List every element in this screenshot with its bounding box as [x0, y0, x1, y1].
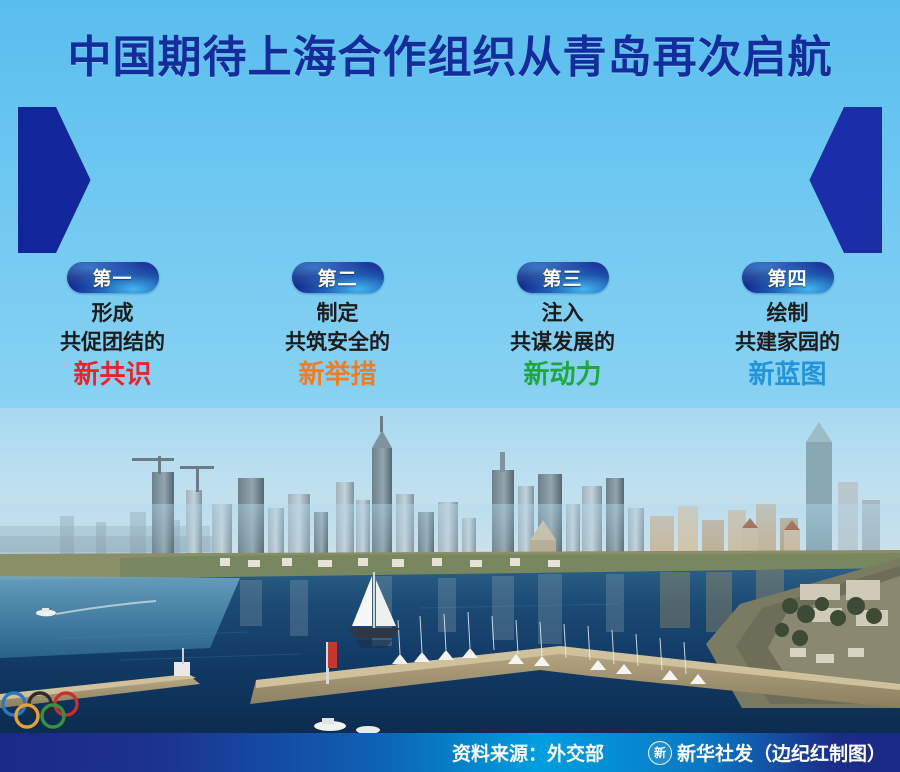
point-badge-label-2: 第二	[317, 264, 357, 291]
point-badge-1: 第一	[67, 262, 159, 293]
point-line2-2: 共筑安全的	[285, 329, 390, 356]
point-item-2: 第二 制定 共筑安全的 新举措	[225, 262, 450, 412]
point-line2-1: 共促团结的	[60, 329, 165, 356]
points-row: 第一 形成 共促团结的 新共识 第二 制定 共筑安全的 新举措 第三 注入 共谋…	[0, 262, 900, 412]
title-area: 中国期待上海合作组织从青岛再次启航	[0, 0, 900, 105]
summary-banner-inner: 外交部5月28日举行中外媒体吹风会。国务委员兼外交部长王毅介绍习近平主席主持上海…	[18, 107, 882, 253]
infographic-poster: 中国期待上海合作组织从青岛再次启航 外交部5月28日举行中外媒体吹风会。国务委员…	[0, 0, 900, 772]
summary-text: 外交部5月28日举行中外媒体吹风会。国务委员兼外交部长王毅介绍习近平主席主持上海…	[90, 140, 804, 264]
point-item-4: 第四 绘制 共建家园的 新蓝图	[675, 262, 900, 412]
point-keyword-4: 新蓝图	[748, 359, 826, 391]
xinhua-logo-glyph: 新	[654, 747, 666, 759]
page-title: 中国期待上海合作组织从青岛再次启航	[68, 21, 833, 85]
point-keyword-3: 新动力	[523, 359, 601, 391]
point-keyword-2: 新举措	[298, 359, 376, 391]
footer-credit: 新华社发（边纪红制图）	[677, 739, 886, 766]
point-item-3: 第三 注入 共谋发展的 新动力	[450, 262, 675, 412]
footer-bar: 资料来源：外交部 新 新华社发（边纪红制图）	[0, 733, 900, 772]
point-badge-label-1: 第一	[92, 264, 132, 291]
point-badge-label-3: 第三	[542, 264, 582, 291]
point-badge-label-4: 第四	[767, 264, 807, 291]
point-badge-2: 第二	[292, 262, 384, 293]
point-line2-3: 共谋发展的	[510, 329, 615, 356]
point-badge-4: 第四	[742, 262, 834, 293]
xinhua-logo-icon: 新	[648, 741, 672, 765]
point-line2-4: 共建家园的	[735, 329, 840, 356]
qingdao-skyline-photo	[0, 408, 900, 733]
summary-banner: 外交部5月28日举行中外媒体吹风会。国务委员兼外交部长王毅介绍习近平主席主持上海…	[18, 107, 882, 253]
footer-credit-group: 新 新华社发（边纪红制图）	[648, 739, 886, 766]
point-item-1: 第一 形成 共促团结的 新共识	[0, 262, 225, 412]
point-line1-2: 制定	[317, 300, 359, 327]
point-line1-3: 注入	[542, 300, 584, 327]
point-line1-1: 形成	[92, 300, 134, 327]
point-badge-3: 第三	[517, 262, 609, 293]
qingdao-skyline-illustration	[0, 408, 900, 733]
point-line1-4: 绘制	[767, 300, 809, 327]
footer-source: 资料来源：外交部	[452, 739, 604, 766]
point-keyword-1: 新共识	[73, 359, 151, 391]
